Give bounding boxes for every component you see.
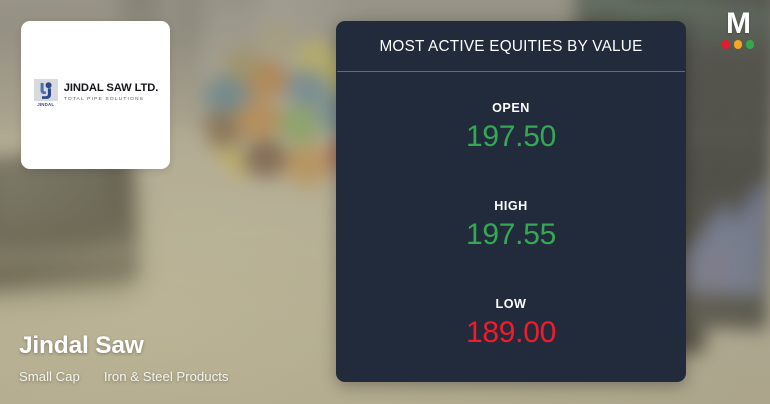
- metric-value: 197.50: [336, 120, 686, 154]
- metric-high: HIGH 197.55: [336, 199, 686, 252]
- market-cap-label: Small Cap: [19, 369, 80, 384]
- metric-label: OPEN: [336, 101, 686, 115]
- metrics-list: OPEN 197.50 HIGH 197.55 LOW 189.00: [336, 72, 686, 382]
- company-info-block: Jindal Saw Small Cap Iron & Steel Produc…: [19, 332, 228, 384]
- moneycontrol-dots: [714, 40, 762, 49]
- sector-label: Iron & Steel Products: [104, 369, 229, 384]
- card-title: MOST ACTIVE EQUITIES BY VALUE: [336, 21, 686, 71]
- metric-label: HIGH: [336, 199, 686, 213]
- dot-red-icon: [722, 40, 731, 49]
- screenshot-root: JINDAL JINDAL SAW LTD. TOTAL PIPE SOLUTI…: [0, 0, 770, 404]
- dot-green-icon: [746, 40, 755, 49]
- metric-value: 189.00: [336, 316, 686, 350]
- company-logo-text: JINDAL SAW LTD. TOTAL PIPE SOLUTIONS: [64, 83, 158, 102]
- metric-open: OPEN 197.50: [336, 101, 686, 154]
- metric-value: 197.55: [336, 218, 686, 252]
- metric-low: LOW 189.00: [336, 297, 686, 350]
- moneycontrol-logo: M: [714, 9, 762, 49]
- letter-j-icon: [36, 81, 56, 100]
- jindal-mark-wordmark: JINDAL: [37, 102, 54, 107]
- company-meta: Small Cap Iron & Steel Products: [19, 369, 228, 384]
- company-name: Jindal Saw: [19, 332, 228, 360]
- equity-stats-card: MOST ACTIVE EQUITIES BY VALUE OPEN 197.5…: [336, 21, 686, 382]
- company-logo: JINDAL JINDAL SAW LTD. TOTAL PIPE SOLUTI…: [33, 79, 158, 107]
- company-logo-tagline: TOTAL PIPE SOLUTIONS: [64, 97, 158, 103]
- metric-label: LOW: [336, 297, 686, 311]
- company-logo-title: JINDAL SAW LTD.: [64, 83, 158, 95]
- company-logo-card: JINDAL JINDAL SAW LTD. TOTAL PIPE SOLUTI…: [21, 21, 170, 169]
- jindal-j-mark: JINDAL: [33, 79, 59, 107]
- moneycontrol-letter-m: M: [714, 9, 762, 39]
- dot-orange-icon: [734, 40, 743, 49]
- jindal-j-mark-square: [34, 79, 58, 101]
